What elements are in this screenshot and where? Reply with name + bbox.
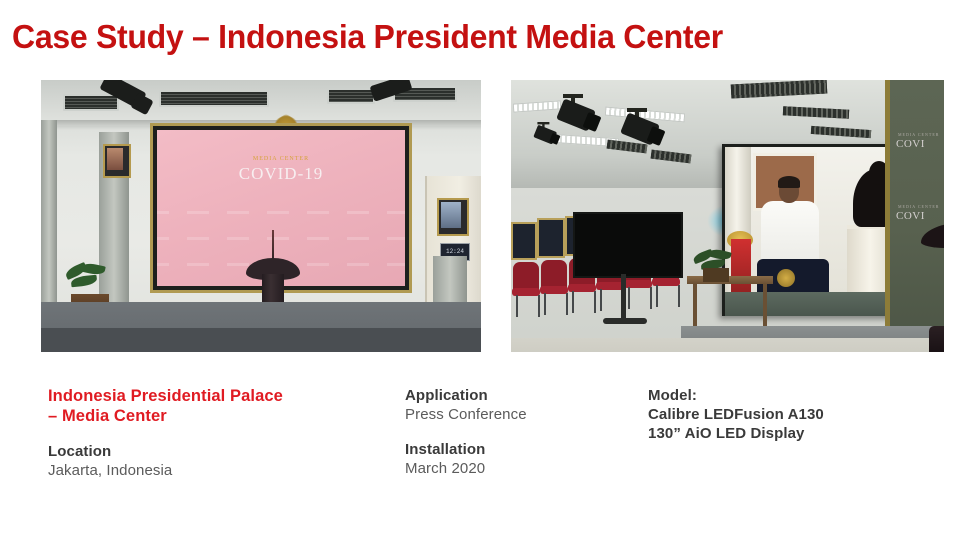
- monitor-stand: [621, 274, 626, 320]
- page-title: Case Study – Indonesia President Media C…: [12, 18, 723, 56]
- table-leg: [693, 284, 697, 326]
- label-application: Application: [405, 386, 640, 405]
- audience-chair: [541, 260, 567, 290]
- label-location: Location: [48, 442, 398, 461]
- wall-portrait-frame: [511, 222, 537, 260]
- wall-portrait-image: [441, 202, 461, 228]
- ceiling-vent-icon: [63, 94, 119, 111]
- stage-platform-front: [41, 328, 481, 352]
- state-seal-icon: [777, 269, 795, 287]
- details-column-location: Indonesia Presidential Palace – Media Ce…: [48, 386, 398, 480]
- left-photo-wall-column: [41, 120, 57, 330]
- value-model-line1: Calibre LEDFusion A130: [648, 405, 948, 424]
- label-model: Model:: [648, 386, 948, 405]
- ceiling-vent-icon: [159, 90, 269, 107]
- podium-top: [921, 222, 944, 248]
- photo-right-media-room: MEDIA CENTER COVI MEDIA CENTER COVI: [511, 80, 944, 352]
- screen-heading: COVID-19: [157, 164, 405, 184]
- photo-left-media-room: MEDIA CENTER COVID-19 12:24: [41, 80, 481, 352]
- value-location: Jakarta, Indonesia: [48, 461, 398, 480]
- room-floor-right: [511, 338, 944, 352]
- slide-root: Case Study – Indonesia President Media C…: [0, 0, 960, 540]
- details-column-model: Model: Calibre LEDFusion A130 130” AiO L…: [648, 386, 948, 443]
- label-installation: Installation: [405, 440, 640, 459]
- ceiling-vent-icon: [327, 88, 375, 104]
- value-application: Press Conference: [405, 405, 640, 424]
- value-model-line2: 130” AiO LED Display: [648, 424, 948, 443]
- side-panel-text: COVI: [896, 138, 925, 150]
- audience-chair: [513, 262, 539, 292]
- venue-name-line1: Indonesia Presidential Palace: [48, 386, 398, 406]
- potted-plant-icon: [693, 250, 737, 278]
- details-column-application: Application Press Conference Installatio…: [405, 386, 640, 478]
- flat-panel-monitor: [573, 212, 683, 278]
- wall-portrait-image: [107, 148, 123, 170]
- venue-name-line2: – Media Center: [48, 406, 398, 426]
- podium-base: [929, 326, 944, 352]
- value-installation: March 2020: [405, 459, 640, 478]
- table-leg: [763, 284, 767, 326]
- wall-portrait-frame: [537, 218, 565, 258]
- speaker-hair: [778, 176, 800, 188]
- monitor-foot: [603, 318, 647, 324]
- podium-right: [921, 222, 944, 352]
- screen-subheading: MEDIA CENTER: [157, 156, 405, 162]
